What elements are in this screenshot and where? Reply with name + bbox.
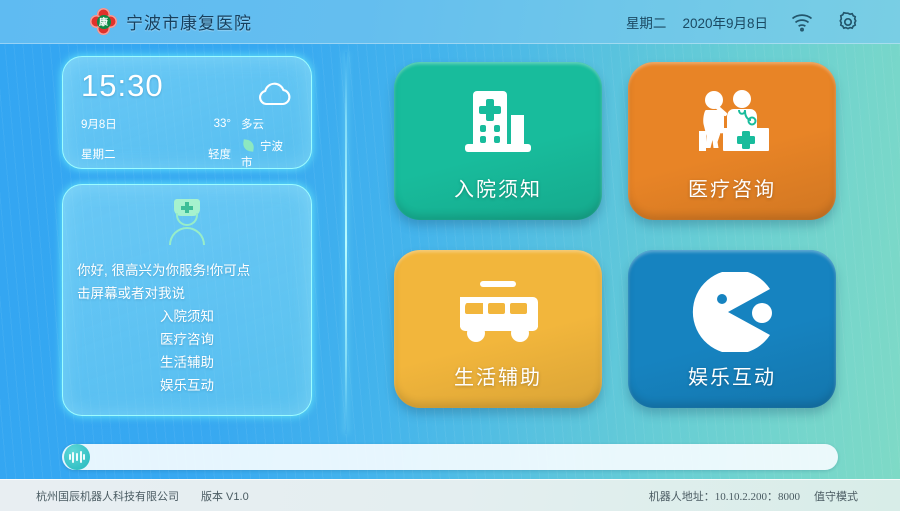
weather-condition: 多云 (241, 116, 293, 132)
footer-bar: 杭州国辰机器人科技有限公司 版本 V1.0 机器人地址：10.10.2.200：… (0, 479, 900, 511)
air-quality: 轻度 (173, 146, 241, 162)
weather-city-group: 宁波市 (241, 138, 293, 170)
main-menu-grid: 入院须知 (394, 62, 836, 408)
voice-wave-icon[interactable] (64, 444, 90, 470)
assistant-option-3[interactable]: 娱乐互动 (77, 374, 297, 397)
kiosk-screen: 康 宁波市康复医院 星期二 2020年9月8日 (0, 0, 900, 511)
robot-address: 机器人地址：10.10.2.200：8000 (649, 488, 800, 504)
column-divider (345, 52, 347, 434)
tile-label: 入院须知 (454, 173, 542, 202)
page-title: 宁波市康复医院 (126, 9, 252, 34)
tile-admission-notice[interactable]: 入院须知 (394, 62, 602, 220)
shuttle-bus-icon (452, 269, 544, 355)
nurse-avatar-icon (163, 199, 211, 245)
footer-left: 杭州国辰机器人科技有限公司 版本 V1.0 (36, 488, 249, 504)
header-datetime: 星期二 2020年9月8日 (626, 12, 768, 32)
hospital-logo-icon: 康 (90, 8, 117, 35)
greeting-line-2: 击屏幕或者对我说 (77, 282, 297, 305)
tile-medical-consultation[interactable]: 医疗咨询 (628, 62, 836, 220)
assistant-option-2[interactable]: 生活辅助 (77, 351, 297, 374)
assistant-option-1[interactable]: 医疗咨询 (77, 328, 297, 351)
assistant-panel[interactable]: 你好, 很高兴为你服务!你可点 击屏幕或者对我说 入院须知 医疗咨询 生活辅助 … (62, 184, 312, 416)
pacman-entertainment-icon (686, 269, 778, 355)
weather-details: 9月8日 33° 多云 星期二 轻度 宁波市 (81, 116, 293, 170)
version-label: 版本 V1.0 (201, 488, 249, 504)
weather-weekday: 星期二 (81, 146, 173, 162)
tile-label: 娱乐互动 (688, 361, 776, 390)
leaf-icon (242, 139, 254, 151)
robot-address-label: 机器人地址： (649, 491, 715, 503)
tile-label: 医疗咨询 (688, 173, 776, 202)
logo-center-char: 康 (97, 15, 111, 29)
robot-address-value: 10.10.2.200：8000 (715, 491, 800, 503)
top-header-bar: 康 宁波市康复医院 星期二 2020年9月8日 (0, 0, 900, 44)
hospital-building-icon (459, 81, 537, 167)
wifi-icon[interactable] (790, 10, 814, 34)
tile-entertainment[interactable]: 娱乐互动 (628, 250, 836, 408)
tile-life-assistance[interactable]: 生活辅助 (394, 250, 602, 408)
voice-input-bar[interactable] (62, 444, 838, 470)
status-badge: 值守模式 (814, 488, 858, 504)
brand: 康 宁波市康复医院 (90, 8, 252, 35)
assistant-message: 你好, 很高兴为你服务!你可点 击屏幕或者对我说 入院须知 医疗咨询 生活辅助 … (77, 259, 297, 397)
header-date: 2020年9月8日 (682, 12, 768, 32)
footer-right: 机器人地址：10.10.2.200：8000 值守模式 (649, 488, 858, 504)
company-name: 杭州国辰机器人科技有限公司 (36, 488, 179, 504)
weather-temperature: 33° (173, 118, 241, 130)
cloud-icon (255, 79, 293, 112)
tile-label: 生活辅助 (454, 361, 542, 390)
weather-card: 15:30 9月8日 33° 多云 星期二 轻度 宁波市 (62, 56, 312, 169)
left-column: 15:30 9月8日 33° 多云 星期二 轻度 宁波市 (62, 56, 312, 416)
greeting-line-1: 你好, 很高兴为你服务!你可点 (77, 259, 297, 282)
doctor-consultation-icon (687, 81, 777, 167)
header-weekday: 星期二 (626, 12, 667, 32)
gear-icon[interactable] (836, 10, 860, 34)
header-right-group: 星期二 2020年9月8日 (626, 10, 860, 34)
assistant-option-0[interactable]: 入院须知 (77, 305, 297, 328)
weather-date: 9月8日 (81, 116, 173, 132)
